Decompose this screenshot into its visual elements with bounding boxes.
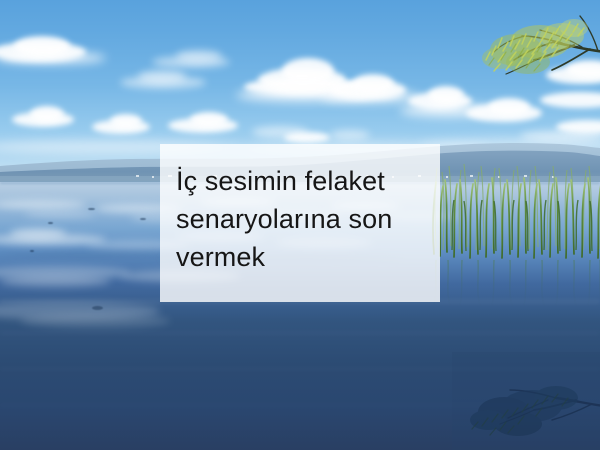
reeds-layer (432, 150, 600, 310)
overlay-headline: İç sesimin felaket senaryolarına son ver… (176, 162, 424, 276)
image-canvas: İç sesimin felaket senaryolarına son ver… (0, 0, 600, 450)
branch-reflection-graphic (452, 352, 600, 450)
tree-branch-graphic (470, 0, 600, 112)
branch-reflection-layer (452, 352, 600, 450)
reeds-graphic (432, 150, 600, 310)
text-overlay-panel: İç sesimin felaket senaryolarına son ver… (160, 144, 440, 302)
tree-branch-layer (470, 0, 600, 112)
